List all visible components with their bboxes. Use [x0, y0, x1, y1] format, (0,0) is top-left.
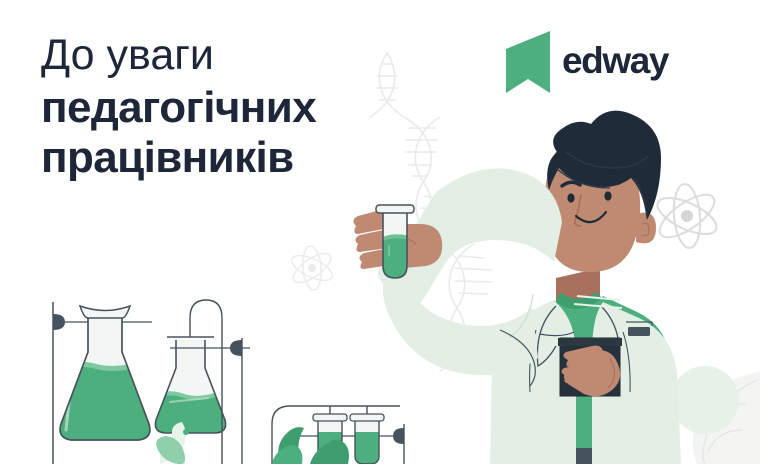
headline-line-3: працівників [41, 136, 316, 180]
edway-logo[interactable]: edway [506, 31, 668, 93]
logo-wordmark: edway [562, 42, 668, 82]
erlenmeyer-flask-large [52, 306, 154, 446]
erlenmeyer-flask-small [150, 337, 228, 440]
leaf-decoration [671, 366, 760, 464]
edway-announcement-banner: До уваги педагогічних працівників edway [0, 0, 760, 464]
headline: До уваги педагогічних працівників [41, 34, 316, 180]
headline-line-1: До уваги [41, 34, 316, 86]
flag-bookmark-icon [506, 31, 552, 93]
atom-symbol-small [288, 245, 335, 290]
headline-line-2: педагогічних [41, 86, 316, 136]
atom-symbol-large [653, 183, 722, 249]
scientist-character [353, 111, 681, 464]
